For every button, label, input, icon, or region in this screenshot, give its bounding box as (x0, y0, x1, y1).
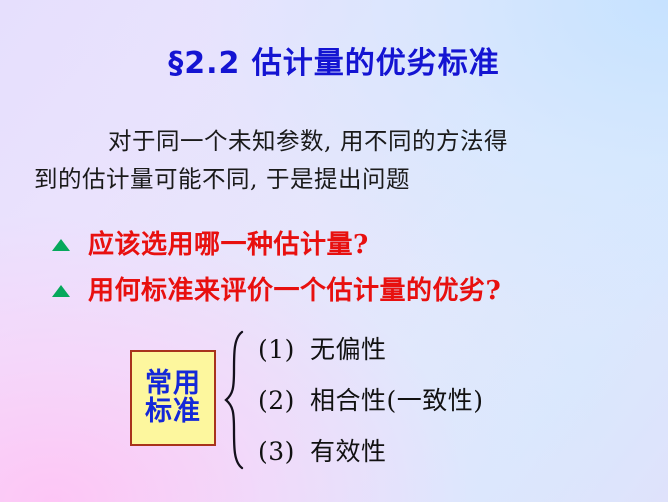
question-item-1: 应该选用哪一种估计量? (52, 224, 369, 261)
criteria-text-3: 有效性 (310, 437, 387, 466)
question-item-2: 用何标准来评价一个估计量的优劣? (52, 270, 501, 307)
slide-title: §2.2 估计量的优劣标准 (0, 38, 668, 82)
criteria-number-1: (1) (258, 335, 310, 364)
criteria-item-2: (2)相合性(一致性) (258, 381, 484, 417)
left-curly-brace-icon (222, 330, 252, 470)
criteria-label-line-1: 常用 (145, 370, 201, 398)
criteria-item-1: (1)无偏性 (258, 330, 387, 366)
paragraph-line-2: 到的估计量可能不同, 于是提出问题 (34, 165, 410, 193)
criteria-text-2: 相合性(一致性) (310, 386, 484, 415)
green-triangle-icon (52, 239, 70, 251)
green-triangle-icon (52, 285, 70, 297)
criteria-number-3: (3) (258, 437, 310, 466)
paragraph-line-1: 对于同一个未知参数, 用不同的方法得 (108, 127, 508, 155)
criteria-label-line-2: 标准 (145, 398, 201, 426)
slide-canvas: §2.2 估计量的优劣标准 对于同一个未知参数, 用不同的方法得 到的估计量可能… (0, 0, 668, 502)
criteria-item-3: (3)有效性 (258, 432, 387, 468)
question-text-1: 应该选用哪一种估计量? (88, 224, 369, 261)
criteria-number-2: (2) (258, 386, 310, 415)
criteria-text-1: 无偏性 (310, 335, 387, 364)
criteria-label-box: 常用 标准 (130, 350, 216, 446)
intro-paragraph: 对于同一个未知参数, 用不同的方法得 到的估计量可能不同, 于是提出问题 (34, 122, 634, 198)
question-text-2: 用何标准来评价一个估计量的优劣? (88, 270, 501, 307)
